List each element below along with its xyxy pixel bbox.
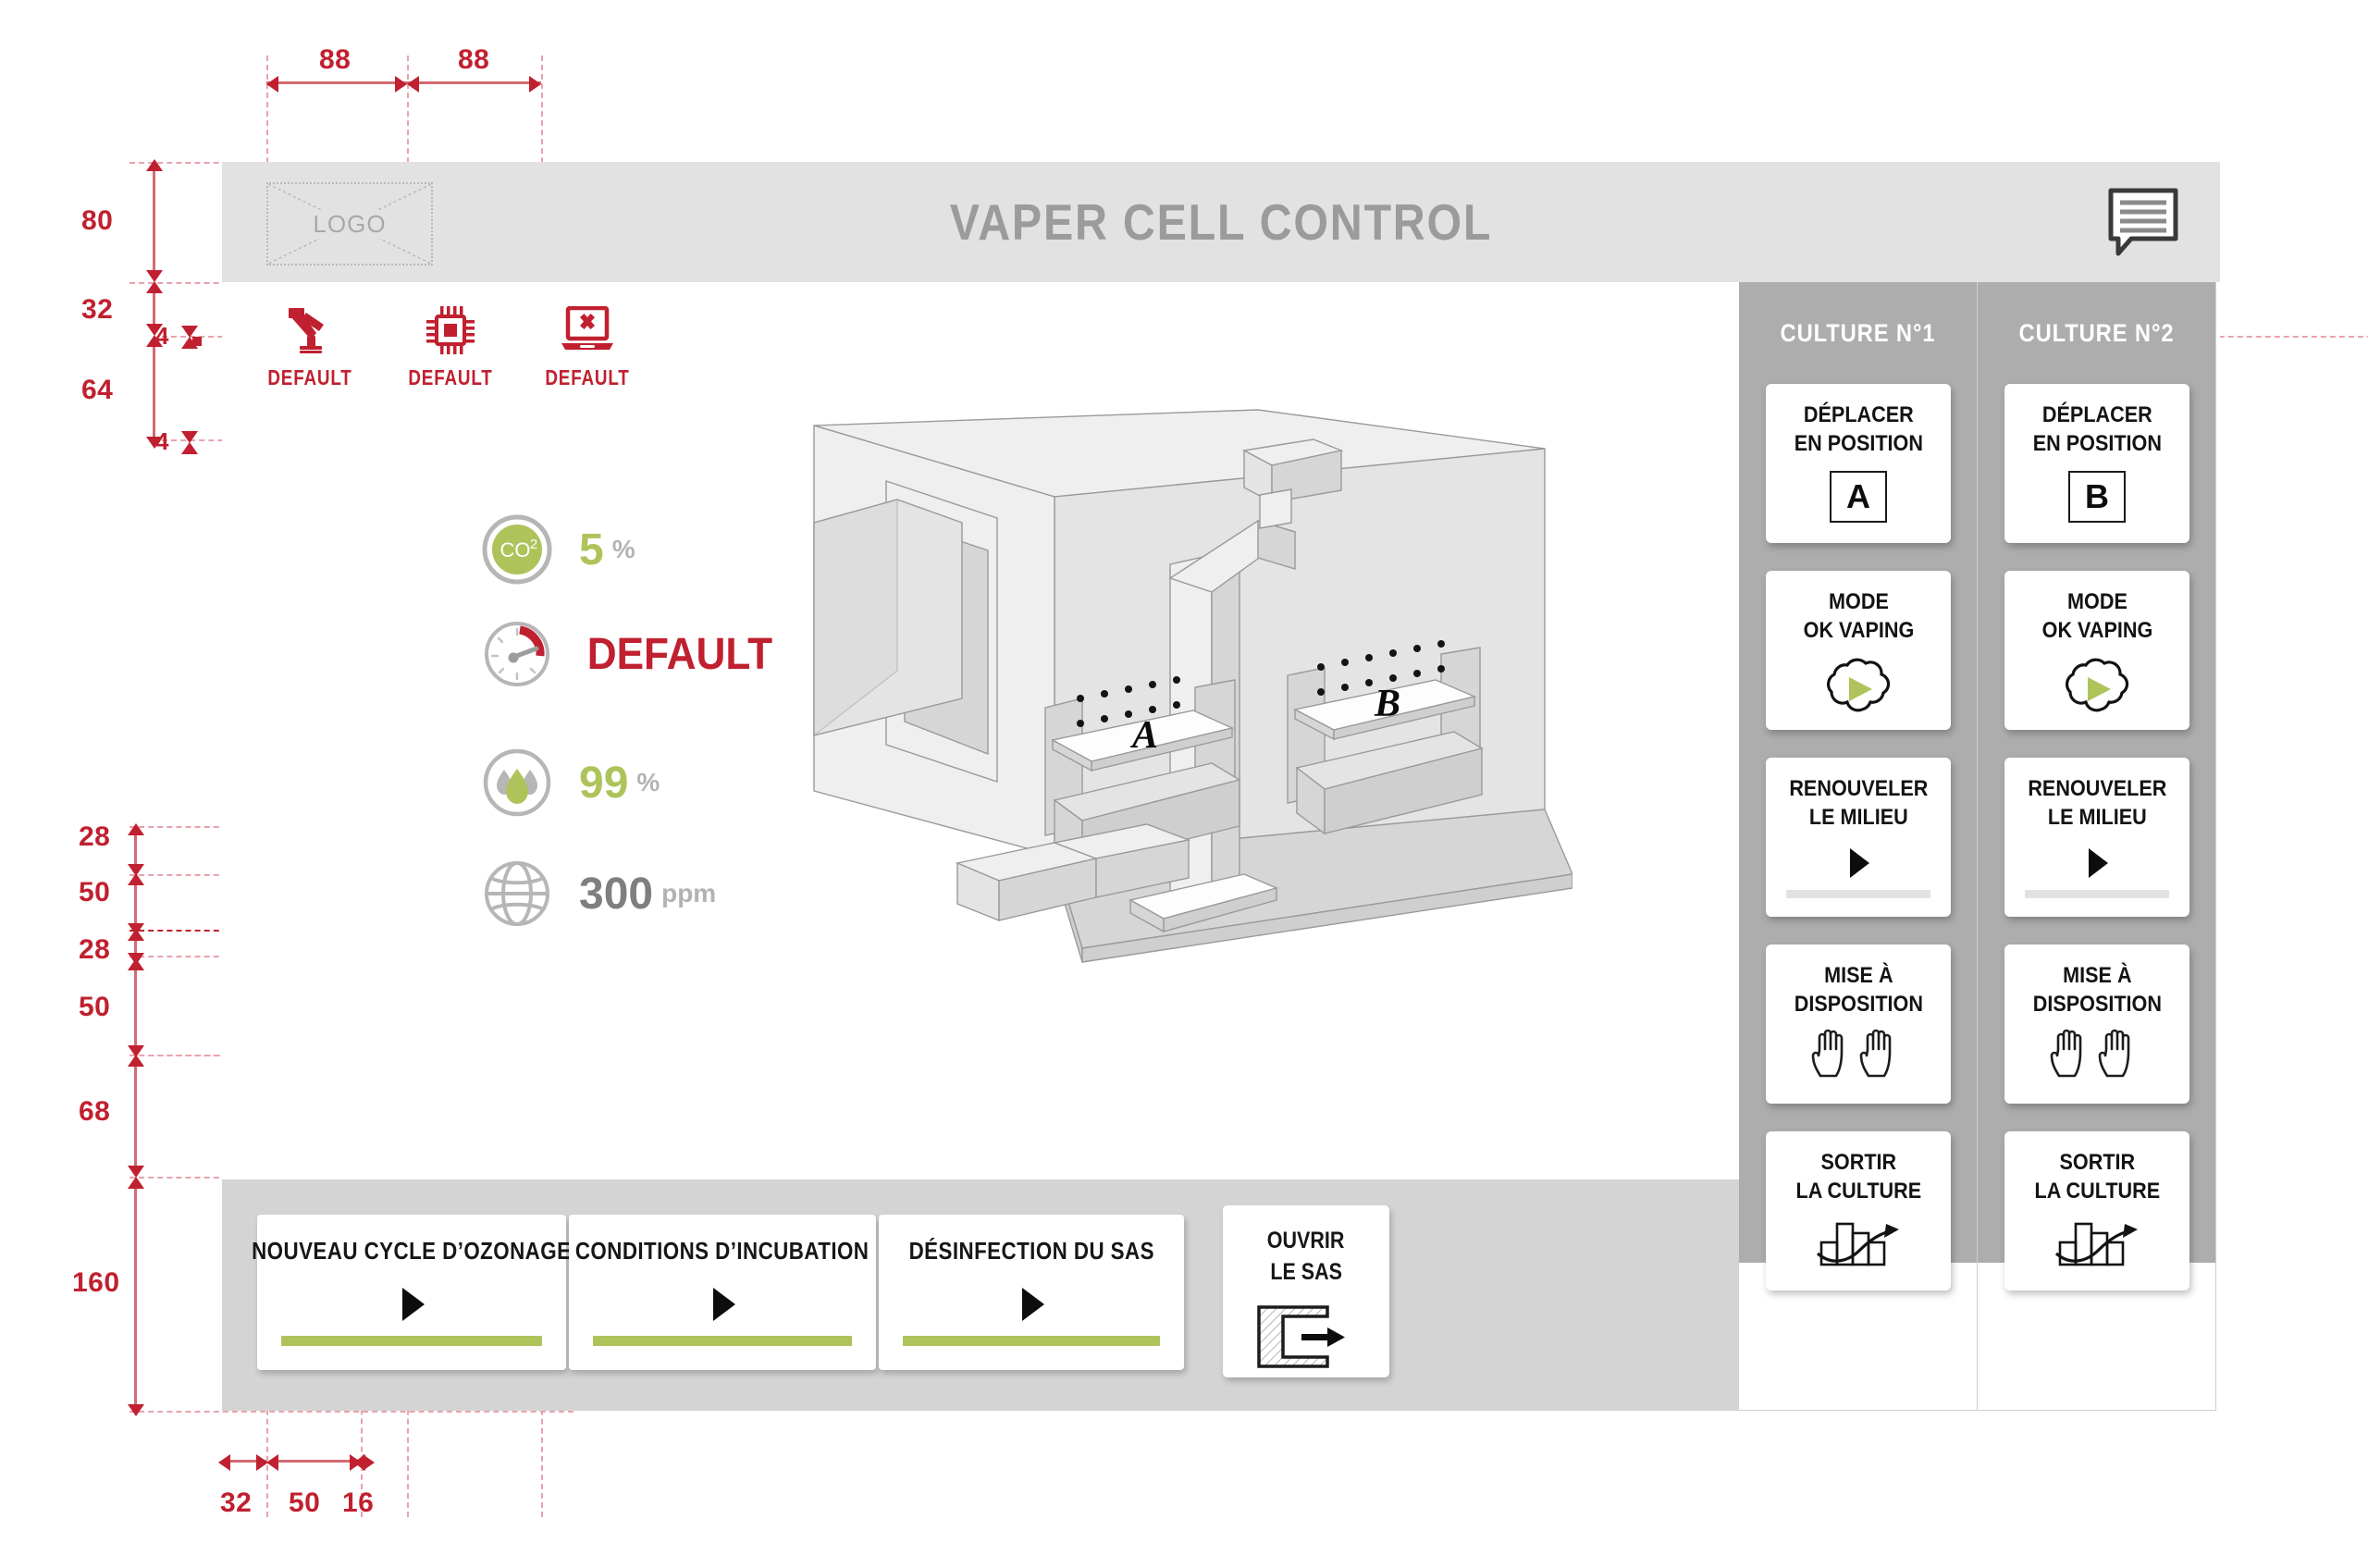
card-sortir-culture-2[interactable]: SORTIRLA CULTURE [2004,1131,2189,1290]
dim-h-88-b: 88 [458,44,489,76]
dim-v-50-a: 50 [79,877,110,908]
dim-v-28-b: 28 [79,934,110,966]
card-label: RENOUVELERLE MILIEU [1789,774,1928,832]
card-renouveler-milieu-1[interactable]: RENOUVELERLE MILIEU [1766,758,1951,917]
sensor-unit: % [612,535,635,564]
culture-title-1: CULTURE N°1 [1753,319,1962,348]
dim-v-68: 68 [79,1096,110,1128]
arrow-left [218,1454,230,1471]
card-deplacer-position-1[interactable]: DÉPLACEREN POSITION A [1766,384,1951,543]
sensor-value: 300 [579,869,653,920]
arrow-right [529,76,541,93]
sensor-value: 5 [579,525,604,575]
bar-chart-arrow-icon [1814,1213,1903,1275]
card-renouveler-milieu-2[interactable]: RENOUVELERLE MILIEU [2004,758,2189,917]
play-icon [1017,1286,1046,1327]
arrow-up [146,159,163,171]
card-mise-disposition-1[interactable]: MISE ÀDISPOSITION [1766,945,1951,1104]
card-mode-ok-vaping-1[interactable]: MODEOK VAPING [1766,571,1951,730]
position-value-2[interactable]: B [2068,471,2126,523]
arrow-left [266,1454,278,1471]
airlock-door-icon [1255,1302,1357,1377]
bar-card-label: NOUVEAU CYCLE D’OZONAGE [252,1237,571,1266]
dim-h-50: 50 [289,1488,320,1519]
card-label: SORTIRLA CULTURE [1795,1148,1921,1205]
dim-v-64: 64 [81,375,113,406]
dim-rule [153,165,155,278]
co2-icon: CO 2 [481,513,553,586]
open-sas-line1: OUVRIR [1267,1226,1345,1257]
dim-h-88-a: 88 [319,44,351,76]
status-item-laptop[interactable]: DEFAULT [518,299,657,390]
dim-rule [266,81,407,84]
bottom-action-bar: NOUVEAU CYCLE D’OZONAGE CONDITIONS D’INC… [222,1179,1739,1411]
dim-rule [407,81,541,84]
page-title: VAPER CELL CONTROL [342,162,2101,282]
two-hands-icon [1808,1028,1908,1093]
chamber-illustration: .f1{fill:#e4e4e4;stroke:#9a9a9a;stroke-w… [777,393,1572,1041]
card-mode-ok-vaping-2[interactable]: MODEOK VAPING [2004,571,2189,730]
arrow-up [128,823,144,835]
column-bottom-border [1739,1410,2216,1411]
dim-v-160: 160 [72,1267,120,1299]
dim-v-4-b: 4 [155,427,169,456]
logo-label: LOGO [307,210,391,239]
dim-v-50-b: 50 [79,992,110,1023]
svg-text:2: 2 [530,537,537,552]
arrow-up [146,281,163,293]
card-label: MODEOK VAPING [1803,587,1914,645]
vapor-cloud-play-icon [2053,654,2141,727]
arrow-up [128,873,144,885]
message-bubble-icon[interactable] [2107,188,2179,256]
card-label: MISE ÀDISPOSITION [1794,961,1922,1019]
card-label: RENOUVELERLE MILIEU [2028,774,2166,832]
sensor-gauge: DEFAULT [481,618,781,690]
play-icon [2084,846,2110,884]
sensor-humidity: 99 % [481,747,660,819]
status-item-robot[interactable]: DEFAULT [240,299,379,390]
dim-rule [134,964,137,1053]
bar-card-desinfection[interactable]: DÉSINFECTION DU SAS [879,1215,1184,1370]
arrow-up [128,958,144,970]
arrow-up [128,1177,144,1189]
culture-column-2: CULTURE N°2 DÉPLACEREN POSITION B MODEOK… [1978,282,2216,1411]
dim-v-80: 80 [81,205,113,237]
robot-arm-icon [240,299,379,356]
play-icon [1845,846,1871,884]
card-label: SORTIRLA CULTURE [2034,1148,2160,1205]
bar-card-ozonage[interactable]: NOUVEAU CYCLE D’OZONAGE [257,1215,566,1370]
status-label: DEFAULT [253,365,367,390]
arrow-up [128,929,144,941]
progress-bar [1786,890,1930,898]
progress-bar [903,1336,1160,1346]
sensor-unit: ppm [661,879,716,908]
dim-rule [270,1460,359,1463]
laptop-error-icon [518,299,657,356]
dim-dot [192,337,202,346]
app-header: VAPER CELL CONTROL LOGO [222,162,2220,282]
status-item-chip[interactable]: DEFAULT [381,299,520,390]
two-hands-icon [2047,1028,2147,1093]
chip-icon [381,299,520,356]
bar-chart-arrow-icon [2053,1213,2141,1275]
progress-bar [281,1336,542,1346]
card-label: MODEOK VAPING [2041,587,2152,645]
sensor-globe: 300 ppm [481,858,716,930]
tray-b-label: B [1374,683,1400,725]
guide-hline [129,1411,573,1413]
arrow-down [128,1404,144,1416]
logo-placeholder: LOGO [266,182,433,265]
dim-v-28-a: 28 [79,821,110,853]
bar-card-label: CONDITIONS D’INCUBATION [575,1237,869,1266]
card-label: DÉPLACEREN POSITION [2032,401,2161,458]
card-deplacer-position-2[interactable]: DÉPLACEREN POSITION B [2004,384,2189,543]
tray-a-label: A [1129,714,1158,757]
gauge-icon [481,618,553,690]
progress-bar [593,1336,852,1346]
sensor-value: 99 [579,758,628,809]
bar-card-incubation[interactable]: CONDITIONS D’INCUBATION [569,1215,876,1370]
play-icon [708,1286,737,1327]
arrow-up [128,1055,144,1067]
play-icon [397,1286,426,1327]
sensor-co2: CO 2 5 % [481,513,635,586]
status-label: DEFAULT [531,365,645,390]
dim-rule [134,1182,137,1412]
sensor-unit: % [636,768,660,797]
humidity-icon [481,747,553,819]
arrow-up [181,442,198,454]
vapor-cloud-play-icon [1814,654,1903,727]
arrow-right [395,76,407,93]
card-mise-disposition-2[interactable]: MISE ÀDISPOSITION [2004,945,2189,1104]
sensor-value: DEFAULT [587,629,772,680]
bar-card-label: DÉSINFECTION DU SAS [908,1237,1153,1266]
svg-text:CO: CO [500,538,531,562]
progress-bar [2025,890,2169,898]
open-sas-button[interactable]: OUVRIR LE SAS [1223,1205,1389,1377]
application-window: VAPER CELL CONTROL LOGO [222,162,2220,1411]
open-sas-line2: LE SAS [1270,1257,1342,1289]
arrow-left [266,76,278,93]
globe-icon [481,858,553,930]
arrow-right [363,1454,375,1471]
card-label: MISE ÀDISPOSITION [2032,961,2161,1019]
card-sortir-culture-1[interactable]: SORTIRLA CULTURE [1766,1131,1951,1290]
arrow-left [407,76,419,93]
culture-title-2: CULTURE N°2 [1992,319,2201,348]
dim-h-16: 16 [342,1488,374,1519]
position-value-1[interactable]: A [1830,471,1887,523]
dim-v-4-a: 4 [155,322,169,351]
culture-sidebar: CULTURE N°1 DÉPLACEREN POSITION A MODEOK… [1739,282,2220,1411]
dim-v-32: 32 [81,294,113,326]
culture-column-1: CULTURE N°1 DÉPLACEREN POSITION A MODEOK… [1739,282,1978,1411]
dim-rule [134,1060,137,1173]
dim-h-32: 32 [220,1488,252,1519]
card-label: DÉPLACEREN POSITION [1794,401,1922,458]
status-icon-row: DEFAULT [222,282,1517,393]
status-label: DEFAULT [394,365,508,390]
